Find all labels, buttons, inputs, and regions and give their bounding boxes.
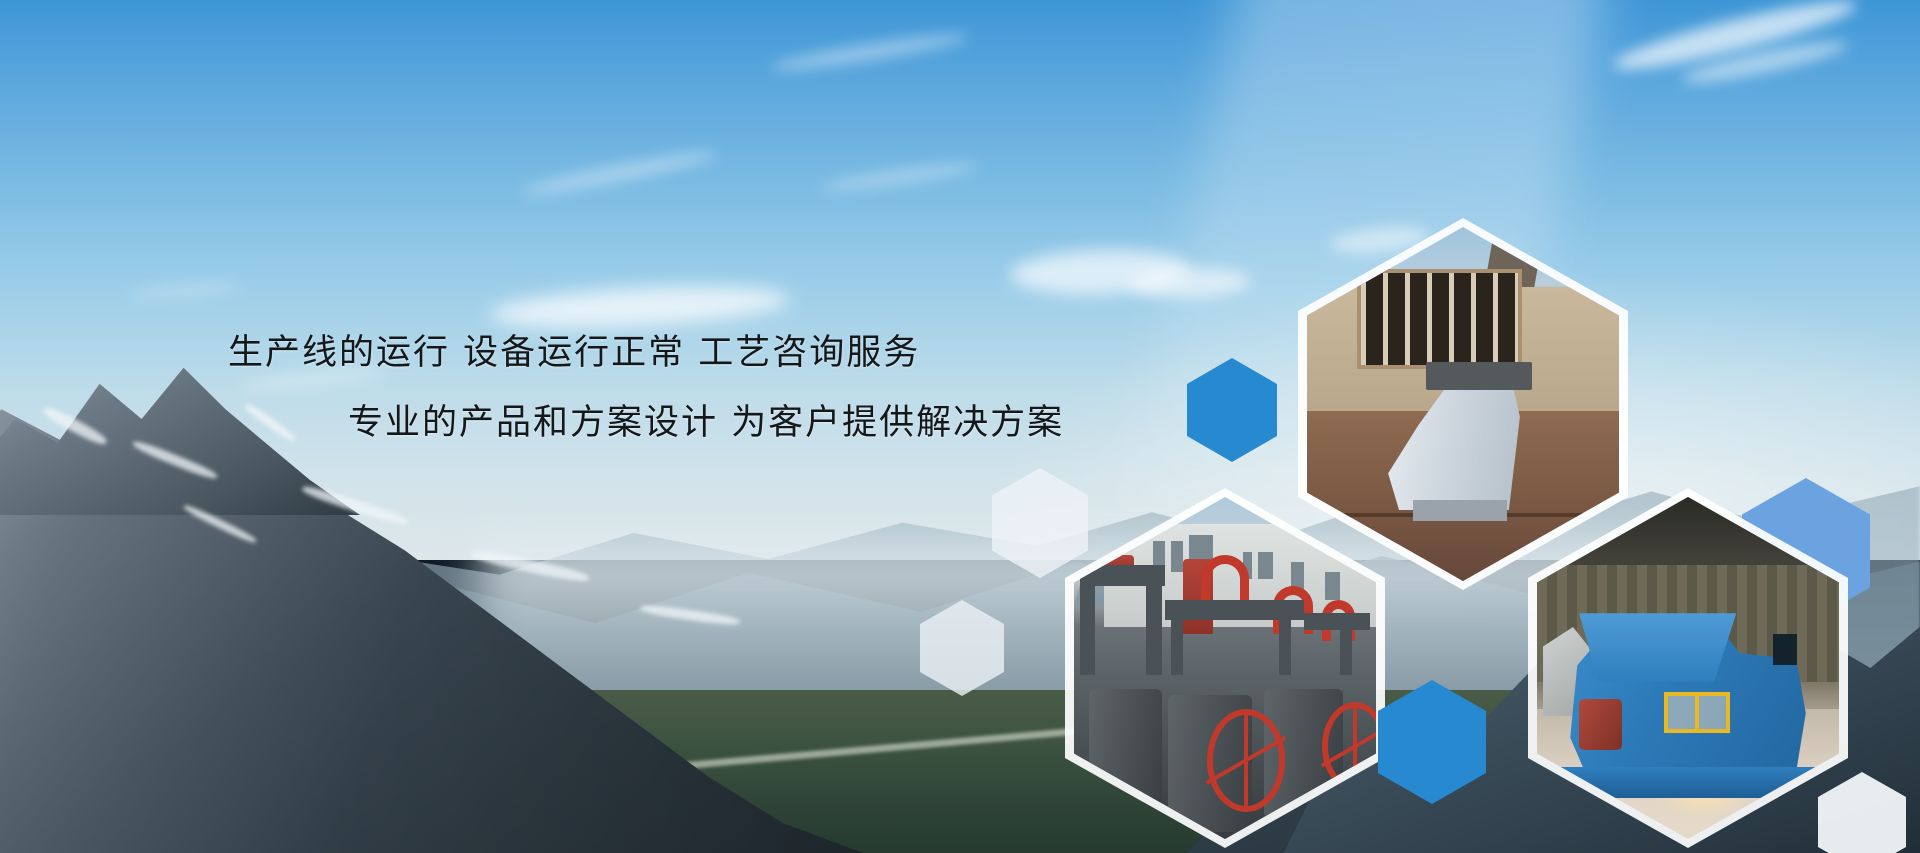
- hex-photo-press-line[interactable]: [1065, 488, 1385, 848]
- hero-banner: 生产线的运行 设备运行正常 工艺咨询服务 专业的产品和方案设计 为客户提供解决方…: [0, 0, 1920, 853]
- hex-photo-blue-machine[interactable]: [1528, 488, 1848, 848]
